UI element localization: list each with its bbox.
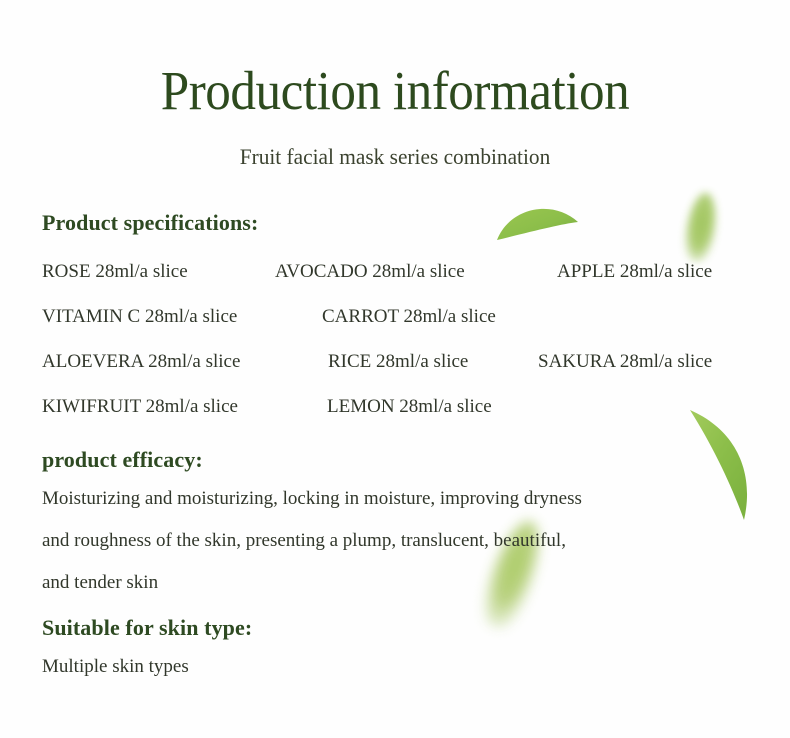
leaf-blurred-top-right-icon [681, 190, 722, 264]
spec-item: KIWIFRUIT 28ml/a slice [42, 396, 238, 418]
leaf-crescent-top-icon [497, 209, 578, 240]
specifications-heading: Product specifications: [42, 210, 258, 236]
spec-item: ROSE 28ml/a slice [42, 261, 188, 283]
efficacy-heading: product efficacy: [42, 447, 203, 473]
page-subtitle: Fruit facial mask series combination [12, 144, 778, 170]
spec-item: LEMON 28ml/a slice [327, 396, 492, 418]
product-information-page: Production information Fruit facial mask… [0, 0, 790, 738]
spec-item: APPLE 28ml/a slice [557, 261, 712, 283]
spec-item: AVOCADO 28ml/a slice [275, 261, 465, 283]
spec-item: VITAMIN C 28ml/a slice [42, 306, 237, 328]
efficacy-text-line: Moisturizing and moisturizing, locking i… [42, 488, 582, 510]
specifications-row: KIWIFRUIT 28ml/a slice LEMON 28ml/a slic… [0, 396, 790, 420]
skin-type-text-line: Multiple skin types [42, 656, 189, 678]
skin-type-heading: Suitable for skin type: [42, 615, 252, 641]
specifications-row: ALOEVERA 28ml/a slice RICE 28ml/a slice … [0, 351, 790, 375]
leaf-crescent-right-icon [690, 410, 747, 520]
spec-item: CARROT 28ml/a slice [322, 306, 496, 328]
specifications-row: VITAMIN C 28ml/a slice CARROT 28ml/a sli… [0, 306, 790, 330]
spec-item: ALOEVERA 28ml/a slice [42, 351, 240, 373]
efficacy-text-line: and roughness of the skin, presenting a … [42, 530, 566, 552]
spec-item: RICE 28ml/a slice [328, 351, 468, 373]
efficacy-text-line: and tender skin [42, 572, 158, 594]
specifications-row: ROSE 28ml/a slice AVOCADO 28ml/a slice A… [0, 261, 790, 285]
spec-item: SAKURA 28ml/a slice [538, 351, 712, 373]
page-title: Production information [28, 62, 763, 120]
